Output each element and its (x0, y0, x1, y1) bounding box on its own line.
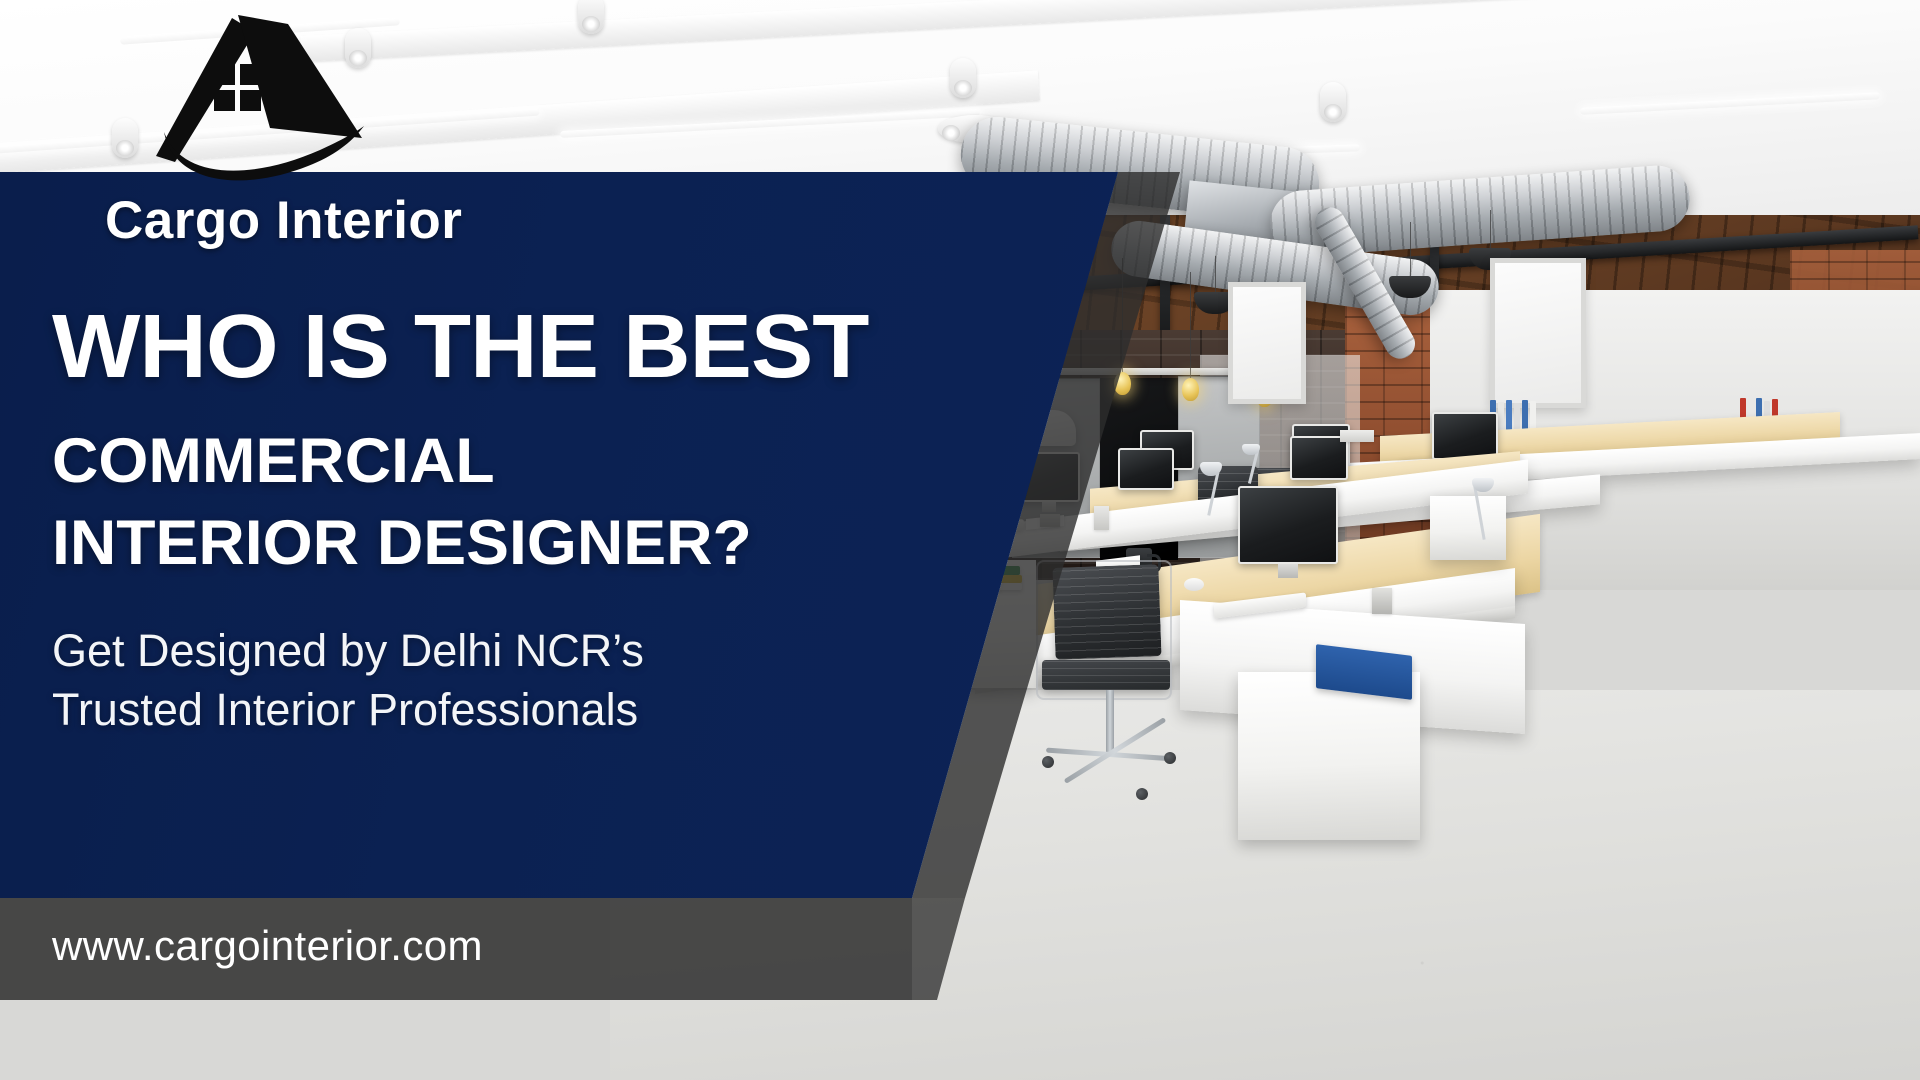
mouse (1184, 578, 1204, 591)
pendant-bulb (1182, 378, 1199, 401)
monitor-mid (1118, 448, 1174, 490)
headline-line-3: INTERIOR DESIGNER? (52, 512, 752, 575)
desk-stapler (1372, 588, 1392, 614)
chair-castor (1164, 752, 1176, 764)
website-url[interactable]: www.cargointerior.com (52, 922, 483, 970)
track-spotlight (1320, 82, 1346, 122)
headline-content: Cargo Interior WHO IS THE BEST COMMERCIA… (0, 172, 1118, 898)
monitor-stand (1278, 564, 1298, 578)
pendant-cord (1190, 272, 1191, 382)
desk-tray (1340, 430, 1374, 442)
banner-canvas: Cargo Interior WHO IS THE BEST COMMERCIA… (0, 0, 1920, 1080)
monitor-mid (1290, 436, 1348, 480)
monitor-front-large (1238, 486, 1338, 564)
monitor-far (1432, 412, 1498, 460)
pendant-cord (1410, 222, 1411, 278)
track-spotlight (950, 58, 976, 98)
pedestal-unit (1430, 496, 1506, 560)
house-roof-swoosh-logo-icon (120, 10, 400, 185)
pendant-cord (1215, 256, 1216, 294)
track-spotlight (578, 0, 604, 34)
brand-name: Cargo Interior (105, 190, 462, 251)
headline-line-1: WHO IS THE BEST (52, 302, 868, 392)
tagline-text: Get Designed by Delhi NCR’s Trusted Inte… (52, 622, 644, 739)
framed-wall-art (1228, 282, 1306, 404)
chair-castor (1136, 788, 1148, 800)
headline-line-2: COMMERCIAL (52, 430, 495, 493)
pendant-cord (1490, 210, 1491, 250)
framed-wall-art (1490, 258, 1586, 408)
